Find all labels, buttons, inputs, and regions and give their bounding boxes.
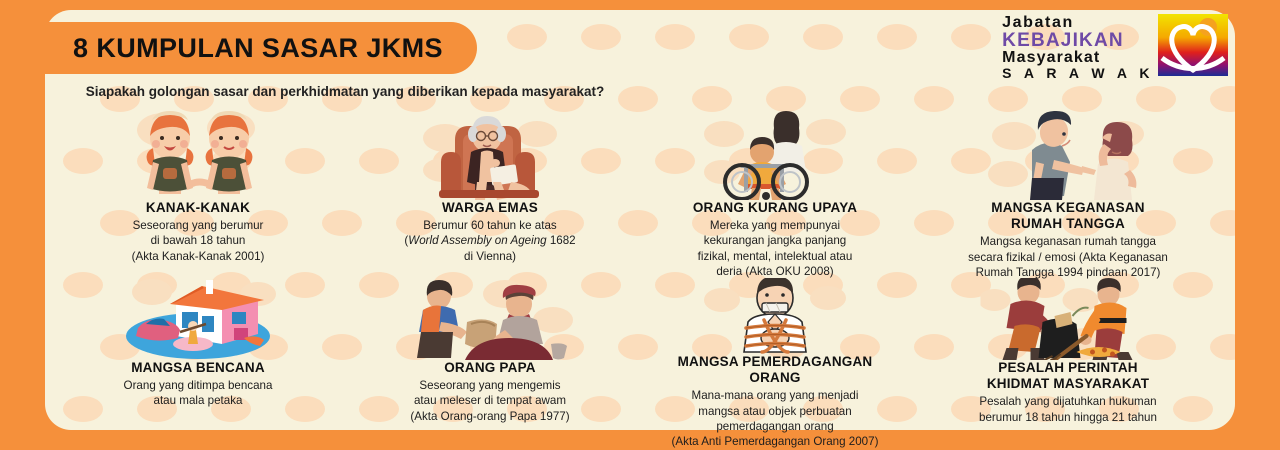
- card-kanak-kanak: KANAK-KANAK Seseorang yang berumur di ba…: [58, 108, 338, 264]
- title-banner: 8 KUMPULAN SASAR JKMS: [45, 22, 477, 74]
- flooded-house-illustration: [123, 278, 273, 356]
- logo-line-masyarakat: Masyarakat: [1002, 50, 1154, 66]
- card-title: PESALAH PERINTAH KHIDMAT MASYARAKAT: [918, 360, 1218, 392]
- card-body: Orang yang ditimpa bencana atau mala pet…: [58, 378, 338, 409]
- logo-wordmark: Jabatan KEBAJIKAN Masyarakat S A R A W A…: [1002, 15, 1154, 80]
- card-body-line3: di Vienna): [464, 250, 516, 263]
- card-warga-emas: WARGA EMAS Berumur 60 tahun ke atas (Wor…: [340, 108, 640, 264]
- card-title: MANGSA BENCANA: [58, 360, 338, 376]
- card-body: Mana-mana orang yang menjadi mangsa atau…: [630, 388, 920, 449]
- card-title: MANGSA PEMERDAGANGAN ORANG: [630, 354, 920, 386]
- page-title: 8 KUMPULAN SASAR JKMS: [73, 33, 443, 64]
- heart-emblem-icon: [1158, 14, 1228, 81]
- two-children-illustration: [123, 108, 273, 196]
- logo-line-sarawak: S A R A W A K: [1002, 66, 1154, 80]
- community-service-workers-illustration: [993, 278, 1143, 356]
- card-body: Seseorang yang mengemis atau meleser di …: [340, 378, 640, 424]
- card-mangsa-keganasan-rumah-tangga: MANGSA KEGANASAN RUMAH TANGGA Mangsa keg…: [918, 108, 1218, 280]
- card-mangsa-bencana: MANGSA BENCANA Orang yang ditimpa bencan…: [58, 278, 338, 409]
- page-subtitle: Siapakah golongan sasar dan perkhidmatan…: [45, 82, 645, 102]
- card-body: Mereka yang mempunyai kekurangan jangka …: [630, 218, 920, 279]
- card-body-line1: Berumur 60 tahun ke atas: [423, 219, 556, 232]
- card-orang-kurang-upaya: ORANG KURANG UPAYA Mereka yang mempunyai…: [630, 108, 920, 279]
- card-body: Berumur 60 tahun ke atas (World Assembly…: [340, 218, 640, 264]
- logo-line-jabatan: Jabatan: [1002, 15, 1154, 31]
- card-title: KANAK-KANAK: [58, 200, 338, 216]
- card-pesalah-perintah-khidmat-masyarakat: PESALAH PERINTAH KHIDMAT MASYARAKAT Pesa…: [918, 278, 1218, 425]
- domestic-violence-illustration: [993, 108, 1143, 196]
- wheelchair-user-illustration: [700, 108, 850, 196]
- elderly-woman-armchair-illustration: [415, 108, 565, 196]
- card-body-line2-post: 1682: [547, 234, 576, 247]
- homeless-person-illustration: [415, 278, 565, 356]
- card-mangsa-pemerdagangan-orang: MANGSA PEMERDAGANGAN ORANG Mana-mana ora…: [630, 278, 920, 450]
- card-orang-papa: ORANG PAPA Seseorang yang mengemis atau …: [340, 278, 640, 424]
- card-title: ORANG KURANG UPAYA: [630, 200, 920, 216]
- card-title: ORANG PAPA: [340, 360, 640, 376]
- card-body: Mangsa keganasan rumah tangga secara fiz…: [918, 234, 1218, 280]
- logo-line-kebajikan: KEBAJIKAN: [1002, 31, 1154, 50]
- bound-trafficking-victim-illustration: [700, 278, 850, 350]
- card-title: WARGA EMAS: [340, 200, 640, 216]
- card-body: Pesalah yang dijatuhkan hukuman berumur …: [918, 394, 1218, 425]
- card-title: MANGSA KEGANASAN RUMAH TANGGA: [918, 200, 1218, 232]
- card-body-line2-em: World Assembly on Ageing: [408, 234, 546, 247]
- card-body: Seseorang yang berumur di bawah 18 tahun…: [58, 218, 338, 264]
- jkm-sarawak-logo: Jabatan KEBAJIKAN Masyarakat S A R A W A…: [1002, 14, 1228, 81]
